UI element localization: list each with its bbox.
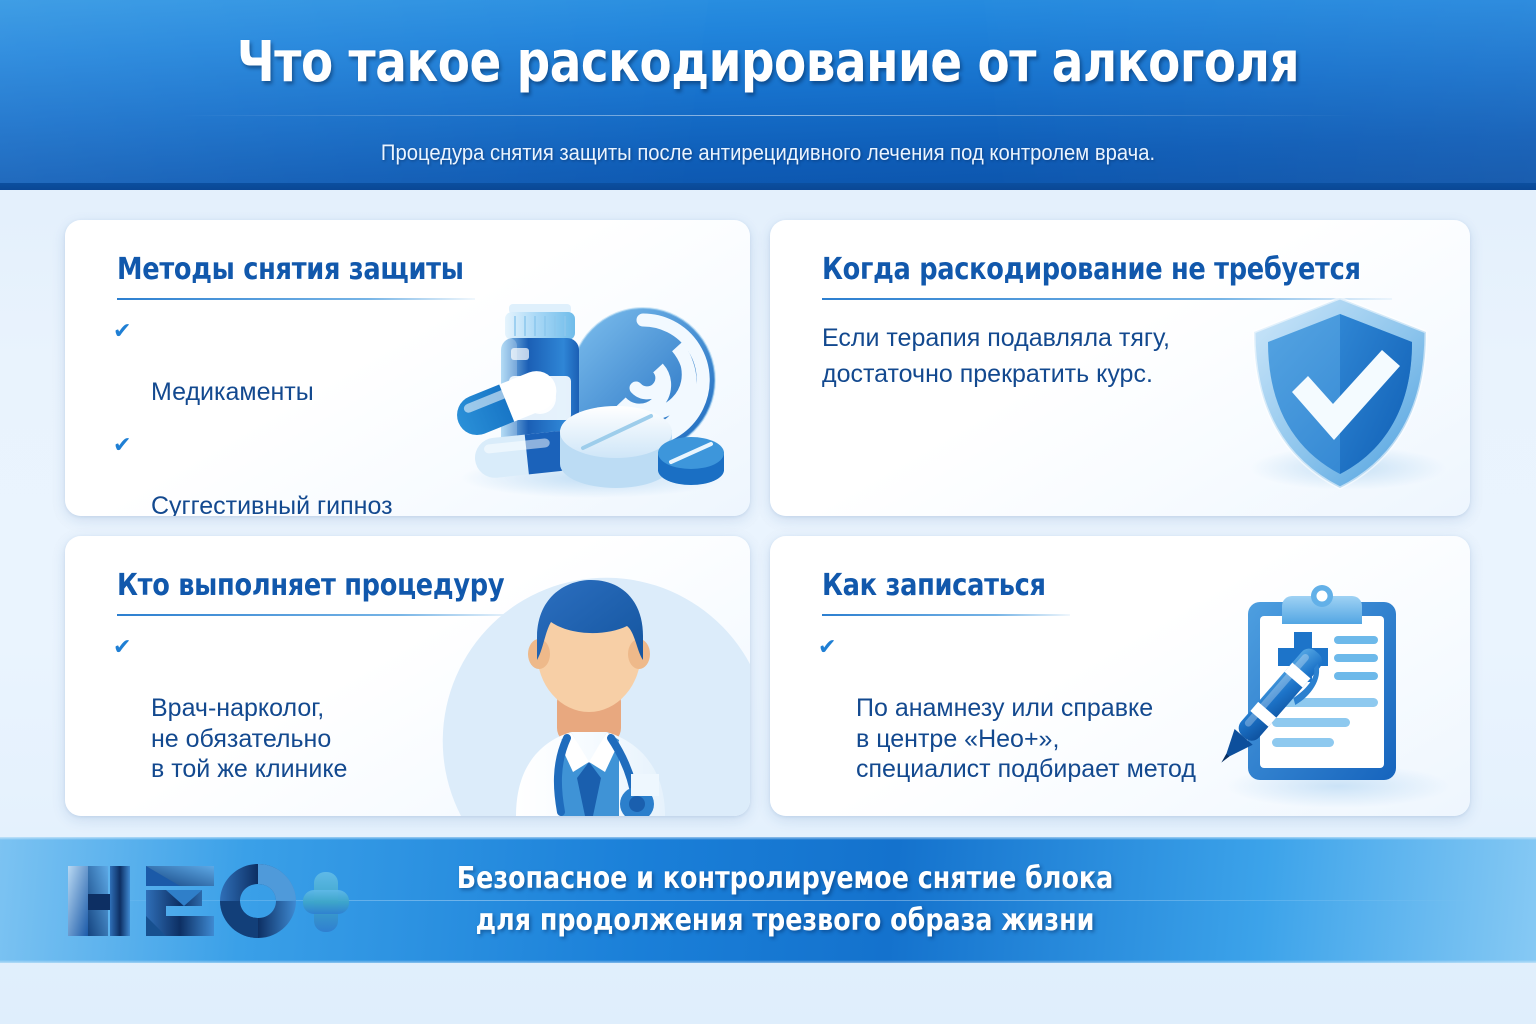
pills-and-spiral-icon — [443, 282, 743, 502]
card-how-to-book: Как записаться ✔ По анамнезу или справке… — [770, 536, 1470, 816]
check-icon: ✔ — [818, 633, 836, 662]
list-item: ✔ По анамнезу или справке в центре «Нео+… — [818, 632, 1218, 785]
card-who-performs: Кто выполняет процедуру ✔ Врач-нарколог,… — [65, 536, 750, 816]
list-item-label: По анамнезу или справке в центре «Нео+»,… — [856, 694, 1196, 783]
card-when-not-needed-heading: Когда раскодирование не требуется — [822, 252, 1361, 287]
list-item: ✔ Врач-нарколог, не обязательно в той же… — [113, 632, 413, 785]
clipboard-pen-icon — [1216, 584, 1456, 810]
list-item: ✔ Суггестивный гипноз — [113, 430, 443, 517]
card-who-performs-heading: Кто выполняет процедуру — [117, 568, 504, 603]
footer-tagline: Безопасное и контролируемое снятие блока… — [381, 858, 1189, 942]
card-how-to-book-heading: Как записаться — [822, 568, 1046, 603]
header-band: Что такое раскодирование от алкоголя Про… — [0, 0, 1536, 190]
list-item-label: Врач-нарколог, не обязательно в той же к… — [151, 694, 347, 783]
card-how-to-book-list: ✔ По анамнезу или справке в центре «Нео+… — [818, 632, 1218, 807]
list-item-label: Суггестивный гипноз — [151, 492, 393, 517]
page-subtitle: Процедура снятия защиты после антирециди… — [61, 140, 1474, 166]
shield-check-icon — [1230, 292, 1450, 502]
neo-plus-logo — [62, 858, 352, 944]
card-who-performs-heading-rule — [117, 614, 517, 616]
footer-tagline-line2: для продолжения трезвого образа жизни — [381, 900, 1189, 942]
list-item-label: Медикаменты — [151, 378, 314, 406]
card-methods-heading-rule — [117, 298, 475, 300]
footer-tagline-line1: Безопасное и контролируемое снятие блока — [381, 858, 1189, 900]
card-methods-list: ✔ Медикаменты ✔ Суггестивный гипноз ✔ Вн… — [113, 316, 443, 516]
check-icon: ✔ — [113, 431, 131, 460]
card-who-performs-list: ✔ Врач-нарколог, не обязательно в той же… — [113, 632, 413, 807]
check-icon: ✔ — [113, 633, 131, 662]
check-icon: ✔ — [113, 317, 131, 346]
card-how-to-book-heading-rule — [822, 614, 1070, 616]
card-methods-heading: Методы снятия защиты — [117, 252, 464, 287]
card-when-not-needed-body: Если терапия подавляла тягу, достаточно … — [822, 320, 1252, 393]
card-when-not-needed: Когда раскодирование не требуется Если т… — [770, 220, 1470, 516]
title-divider — [180, 115, 1356, 116]
infographic-poster: Что такое раскодирование от алкоголя Про… — [0, 0, 1536, 1024]
page-title: Что такое раскодирование от алкоголя — [54, 30, 1482, 95]
list-item: ✔ Медикаменты — [113, 316, 443, 408]
card-methods: Методы снятия защиты ✔ Медикаменты ✔ Суг… — [65, 220, 750, 516]
card-when-not-needed-heading-rule — [822, 298, 1392, 300]
